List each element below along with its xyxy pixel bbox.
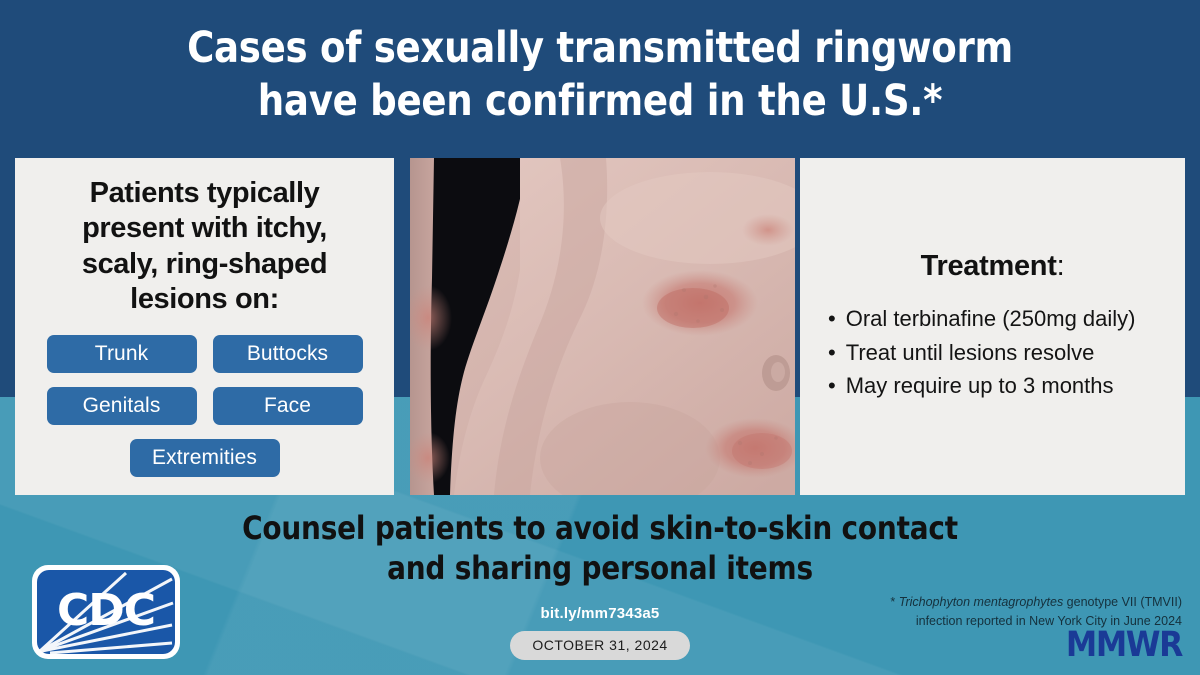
treatment-bullet-3: • May require up to 3 months <box>828 369 1167 402</box>
treatment-title-colon: : <box>1057 250 1065 282</box>
cdc-logo[interactable]: CDC <box>30 563 182 661</box>
treatment-bullet-2: • Treat until lesions resolve <box>828 336 1167 369</box>
treatment-bullet-list: • Oral terbinafine (250mg daily) • Treat… <box>818 302 1167 402</box>
page-title-line-1: Cases of sexually transmitted ringworm <box>24 22 1176 75</box>
body-site-pill-group: Trunk Buttocks Genitals Face Extremities <box>37 335 372 477</box>
pill-genitals[interactable]: Genitals <box>47 387 197 425</box>
bullet-glyph-icon: • <box>828 302 836 335</box>
shortlink[interactable]: bit.ly/mm7343a5 <box>400 605 800 622</box>
pill-face[interactable]: Face <box>213 387 363 425</box>
footnote-star: * <box>890 595 898 609</box>
body-site-pill-row: Genitals Face <box>47 387 363 425</box>
page-title-line-2: have been confirmed in the U.S.* <box>24 75 1176 128</box>
treatment-bullet-1-text: Oral terbinafine (250mg daily) <box>846 302 1136 335</box>
footnote-genotype: genotype VII (TMVII) <box>1063 595 1182 609</box>
pill-buttocks[interactable]: Buttocks <box>213 335 363 373</box>
call-to-action: Counsel patients to avoid skin-to-skin c… <box>18 508 1182 588</box>
treatment-bullet-2-text: Treat until lesions resolve <box>846 336 1095 369</box>
call-to-action-line-2: and sharing personal items <box>18 548 1182 588</box>
symptoms-panel-title: Patients typically present with itchy, s… <box>55 176 355 318</box>
infographic-root: Cases of sexually transmitted ringworm h… <box>0 0 1200 675</box>
body-site-pill-row: Trunk Buttocks <box>47 335 363 373</box>
treatment-bullet-3-text: May require up to 3 months <box>846 369 1114 402</box>
bullet-glyph-icon: • <box>828 369 836 402</box>
symptoms-title-line-3: scaly, ring-shaped <box>82 248 327 280</box>
symptoms-title-line-4: lesions on: <box>130 283 279 315</box>
pill-extremities[interactable]: Extremities <box>130 439 280 477</box>
treatment-panel: Treatment: • Oral terbinafine (250mg dai… <box>800 158 1185 495</box>
page-title: Cases of sexually transmitted ringworm h… <box>24 22 1176 128</box>
body-site-pill-row: Extremities <box>130 439 280 477</box>
svg-text:CDC: CDC <box>57 585 155 636</box>
footnote-species-name: Trichophyton mentagrophytes <box>899 595 1063 609</box>
pill-trunk[interactable]: Trunk <box>47 335 197 373</box>
publication-date-badge: OCTOBER 31, 2024 <box>510 631 689 660</box>
call-to-action-line-1: Counsel patients to avoid skin-to-skin c… <box>18 508 1182 548</box>
bullet-glyph-icon: • <box>828 336 836 369</box>
clinical-photo-illustration <box>410 158 795 495</box>
link-block: bit.ly/mm7343a5 OCTOBER 31, 2024 <box>400 605 800 660</box>
treatment-bullet-1: • Oral terbinafine (250mg daily) <box>828 302 1167 335</box>
treatment-panel-title: Treatment: <box>818 250 1167 283</box>
mmwr-logo[interactable]: MMWR <box>1066 628 1182 663</box>
symptoms-panel: Patients typically present with itchy, s… <box>15 158 394 495</box>
clinical-photo <box>410 158 795 495</box>
symptoms-title-line-1: Patients typically <box>90 177 320 209</box>
symptoms-title-line-2: present with itchy, <box>82 212 327 244</box>
treatment-title-text: Treatment <box>921 250 1057 282</box>
cdc-logo-icon: CDC <box>30 563 182 661</box>
